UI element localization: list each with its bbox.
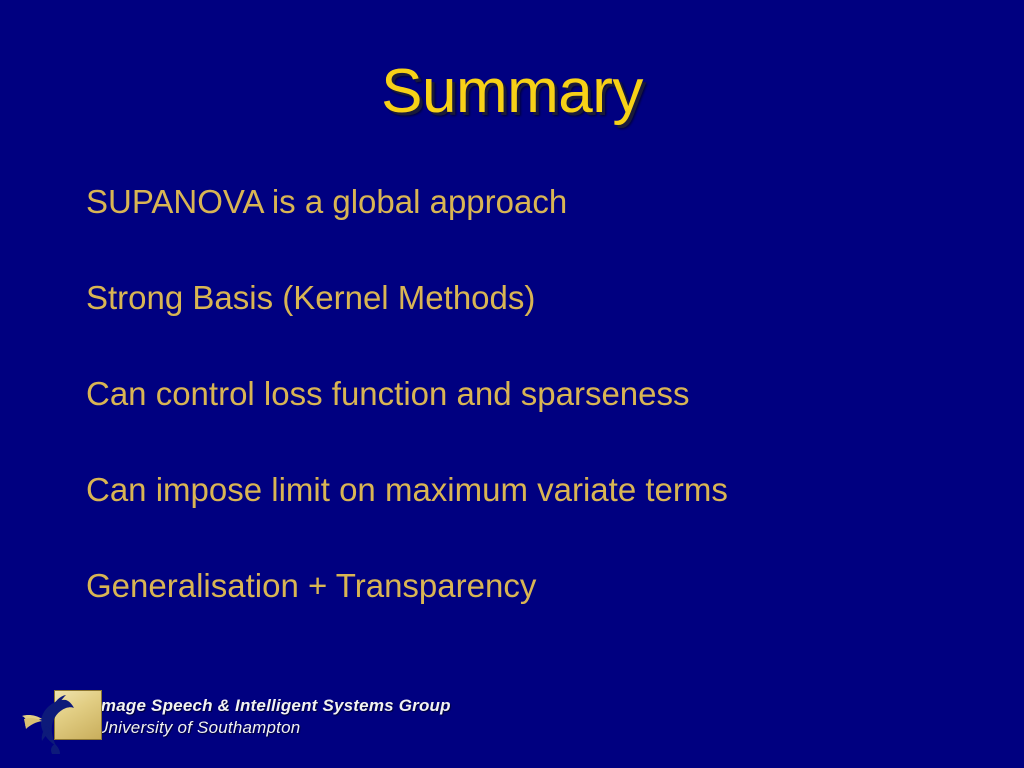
list-item: SUPANOVA is a global approach	[86, 182, 966, 222]
list-item: Can control loss function and sparseness	[86, 374, 966, 414]
dolphin-icon	[22, 686, 88, 754]
presentation-slide: Summary SUPANOVA is a global approach St…	[0, 0, 1024, 768]
bullet-list: SUPANOVA is a global approach Strong Bas…	[86, 182, 966, 606]
list-item: Can impose limit on maximum variate term…	[86, 470, 966, 510]
dolphin-square-logo-icon	[22, 682, 88, 754]
title-block: Summary	[0, 56, 1024, 128]
logo-university-name: University of Southampton	[96, 717, 451, 739]
organisation-logo: Image Speech & Intelligent Systems Group…	[22, 682, 451, 754]
logo-group-name: Image Speech & Intelligent Systems Group	[96, 695, 451, 717]
list-item: Strong Basis (Kernel Methods)	[86, 278, 966, 318]
page-title: Summary	[381, 56, 643, 128]
list-item: Generalisation + Transparency	[86, 566, 966, 606]
logo-text-block: Image Speech & Intelligent Systems Group…	[96, 695, 451, 741]
